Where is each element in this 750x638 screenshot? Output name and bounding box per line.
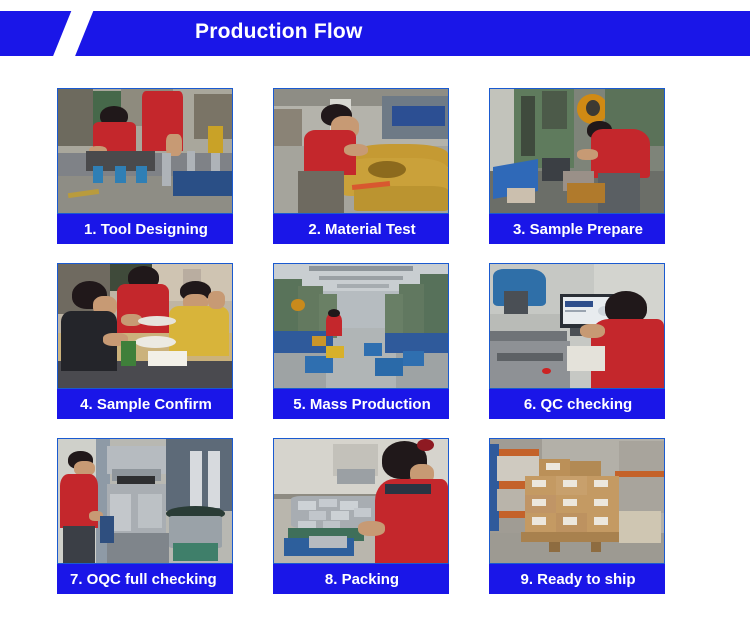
- step-photo-7: [57, 438, 233, 564]
- step-label-8: 8. Packing: [274, 565, 449, 593]
- step-photo-2: [273, 88, 449, 214]
- step-card-9[interactable]: 9. Ready to ship: [489, 438, 665, 594]
- step-label-1: 1. Tool Designing: [58, 215, 233, 243]
- step-card-2[interactable]: 2. Material Test: [273, 88, 449, 244]
- step-card-6[interactable]: 6. QC checking: [489, 263, 665, 419]
- step-photo-3: [489, 88, 665, 214]
- step-photo-9: [489, 438, 665, 564]
- step-photo-5: [273, 263, 449, 389]
- step-label-2: 2. Material Test: [274, 215, 449, 243]
- step-caption-8: 8. Packing: [273, 564, 449, 594]
- step-photo-6: [489, 263, 665, 389]
- step-label-5: 5. Mass Production: [274, 390, 449, 418]
- step-caption-4: 4. Sample Confirm: [57, 389, 233, 419]
- step-label-4: 4. Sample Confirm: [58, 390, 233, 418]
- step-photo-4: [57, 263, 233, 389]
- step-label-3: 3. Sample Prepare: [490, 215, 665, 243]
- step-card-8[interactable]: 8. Packing: [273, 438, 449, 594]
- step-card-5[interactable]: 5. Mass Production: [273, 263, 449, 419]
- step-card-3[interactable]: 3. Sample Prepare: [489, 88, 665, 244]
- step-caption-5: 5. Mass Production: [273, 389, 449, 419]
- step-card-1[interactable]: 1. Tool Designing: [57, 88, 233, 244]
- step-caption-3: 3. Sample Prepare: [489, 214, 665, 244]
- step-photo-1: [57, 88, 233, 214]
- step-caption-1: 1. Tool Designing: [57, 214, 233, 244]
- step-caption-6: 6. QC checking: [489, 389, 665, 419]
- production-flow-grid: 1. Tool Designing: [0, 0, 750, 638]
- step-caption-2: 2. Material Test: [273, 214, 449, 244]
- step-label-9: 9. Ready to ship: [490, 565, 665, 593]
- production-flow-page: Production Flow: [0, 0, 750, 638]
- step-card-4[interactable]: 4. Sample Confirm: [57, 263, 233, 419]
- step-photo-8: [273, 438, 449, 564]
- step-card-7[interactable]: 7. OQC full checking: [57, 438, 233, 594]
- step-caption-9: 9. Ready to ship: [489, 564, 665, 594]
- step-caption-7: 7. OQC full checking: [57, 564, 233, 594]
- step-label-7: 7. OQC full checking: [58, 565, 233, 593]
- step-label-6: 6. QC checking: [490, 390, 665, 418]
